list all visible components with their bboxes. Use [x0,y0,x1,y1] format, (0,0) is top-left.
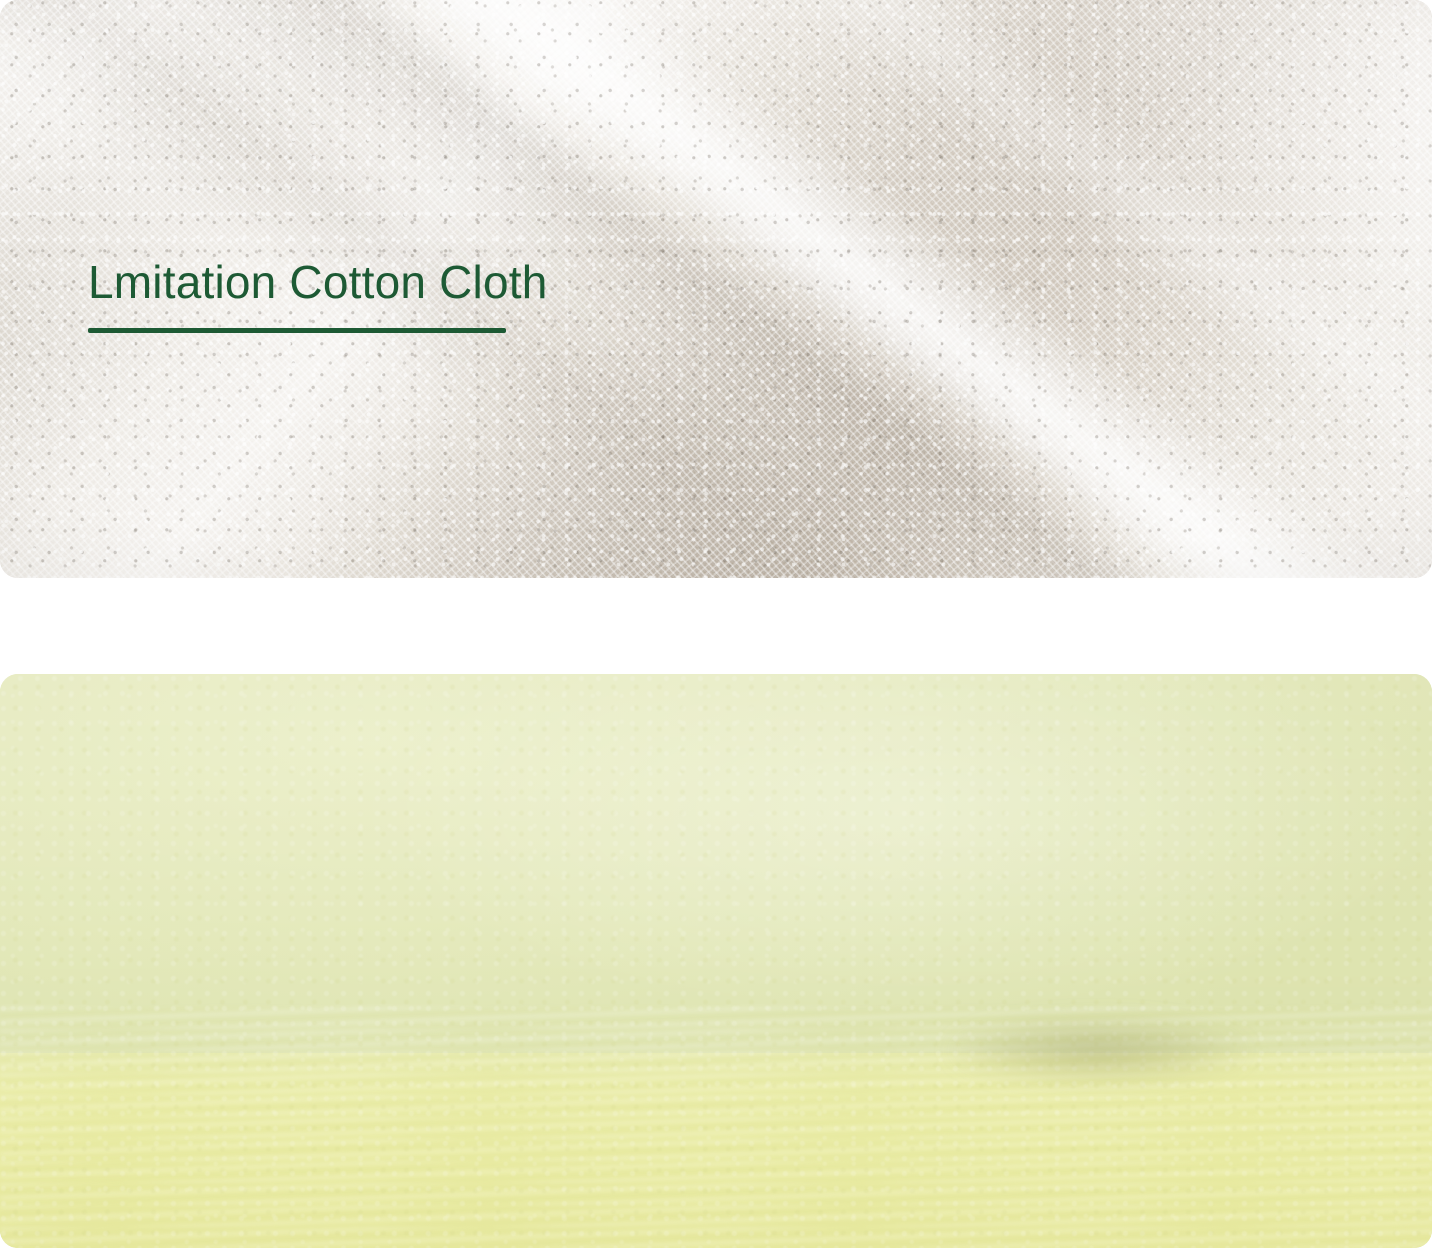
cloth-caption-underline [88,328,506,333]
cloth-caption-block: Lmitation Cotton Cloth [88,258,548,333]
sponge-cell-texture [0,674,1432,1248]
product-feature-page: Lmitation Cotton Cloth High Density Spon… [0,0,1445,1256]
cloth-caption-title: Lmitation Cotton Cloth [88,258,548,308]
panel-high-density-sponge: High Density Sponge [0,674,1432,1248]
panel-imitation-cotton-cloth: Lmitation Cotton Cloth [0,0,1432,578]
egg-cast-shadow [930,1010,1330,1100]
